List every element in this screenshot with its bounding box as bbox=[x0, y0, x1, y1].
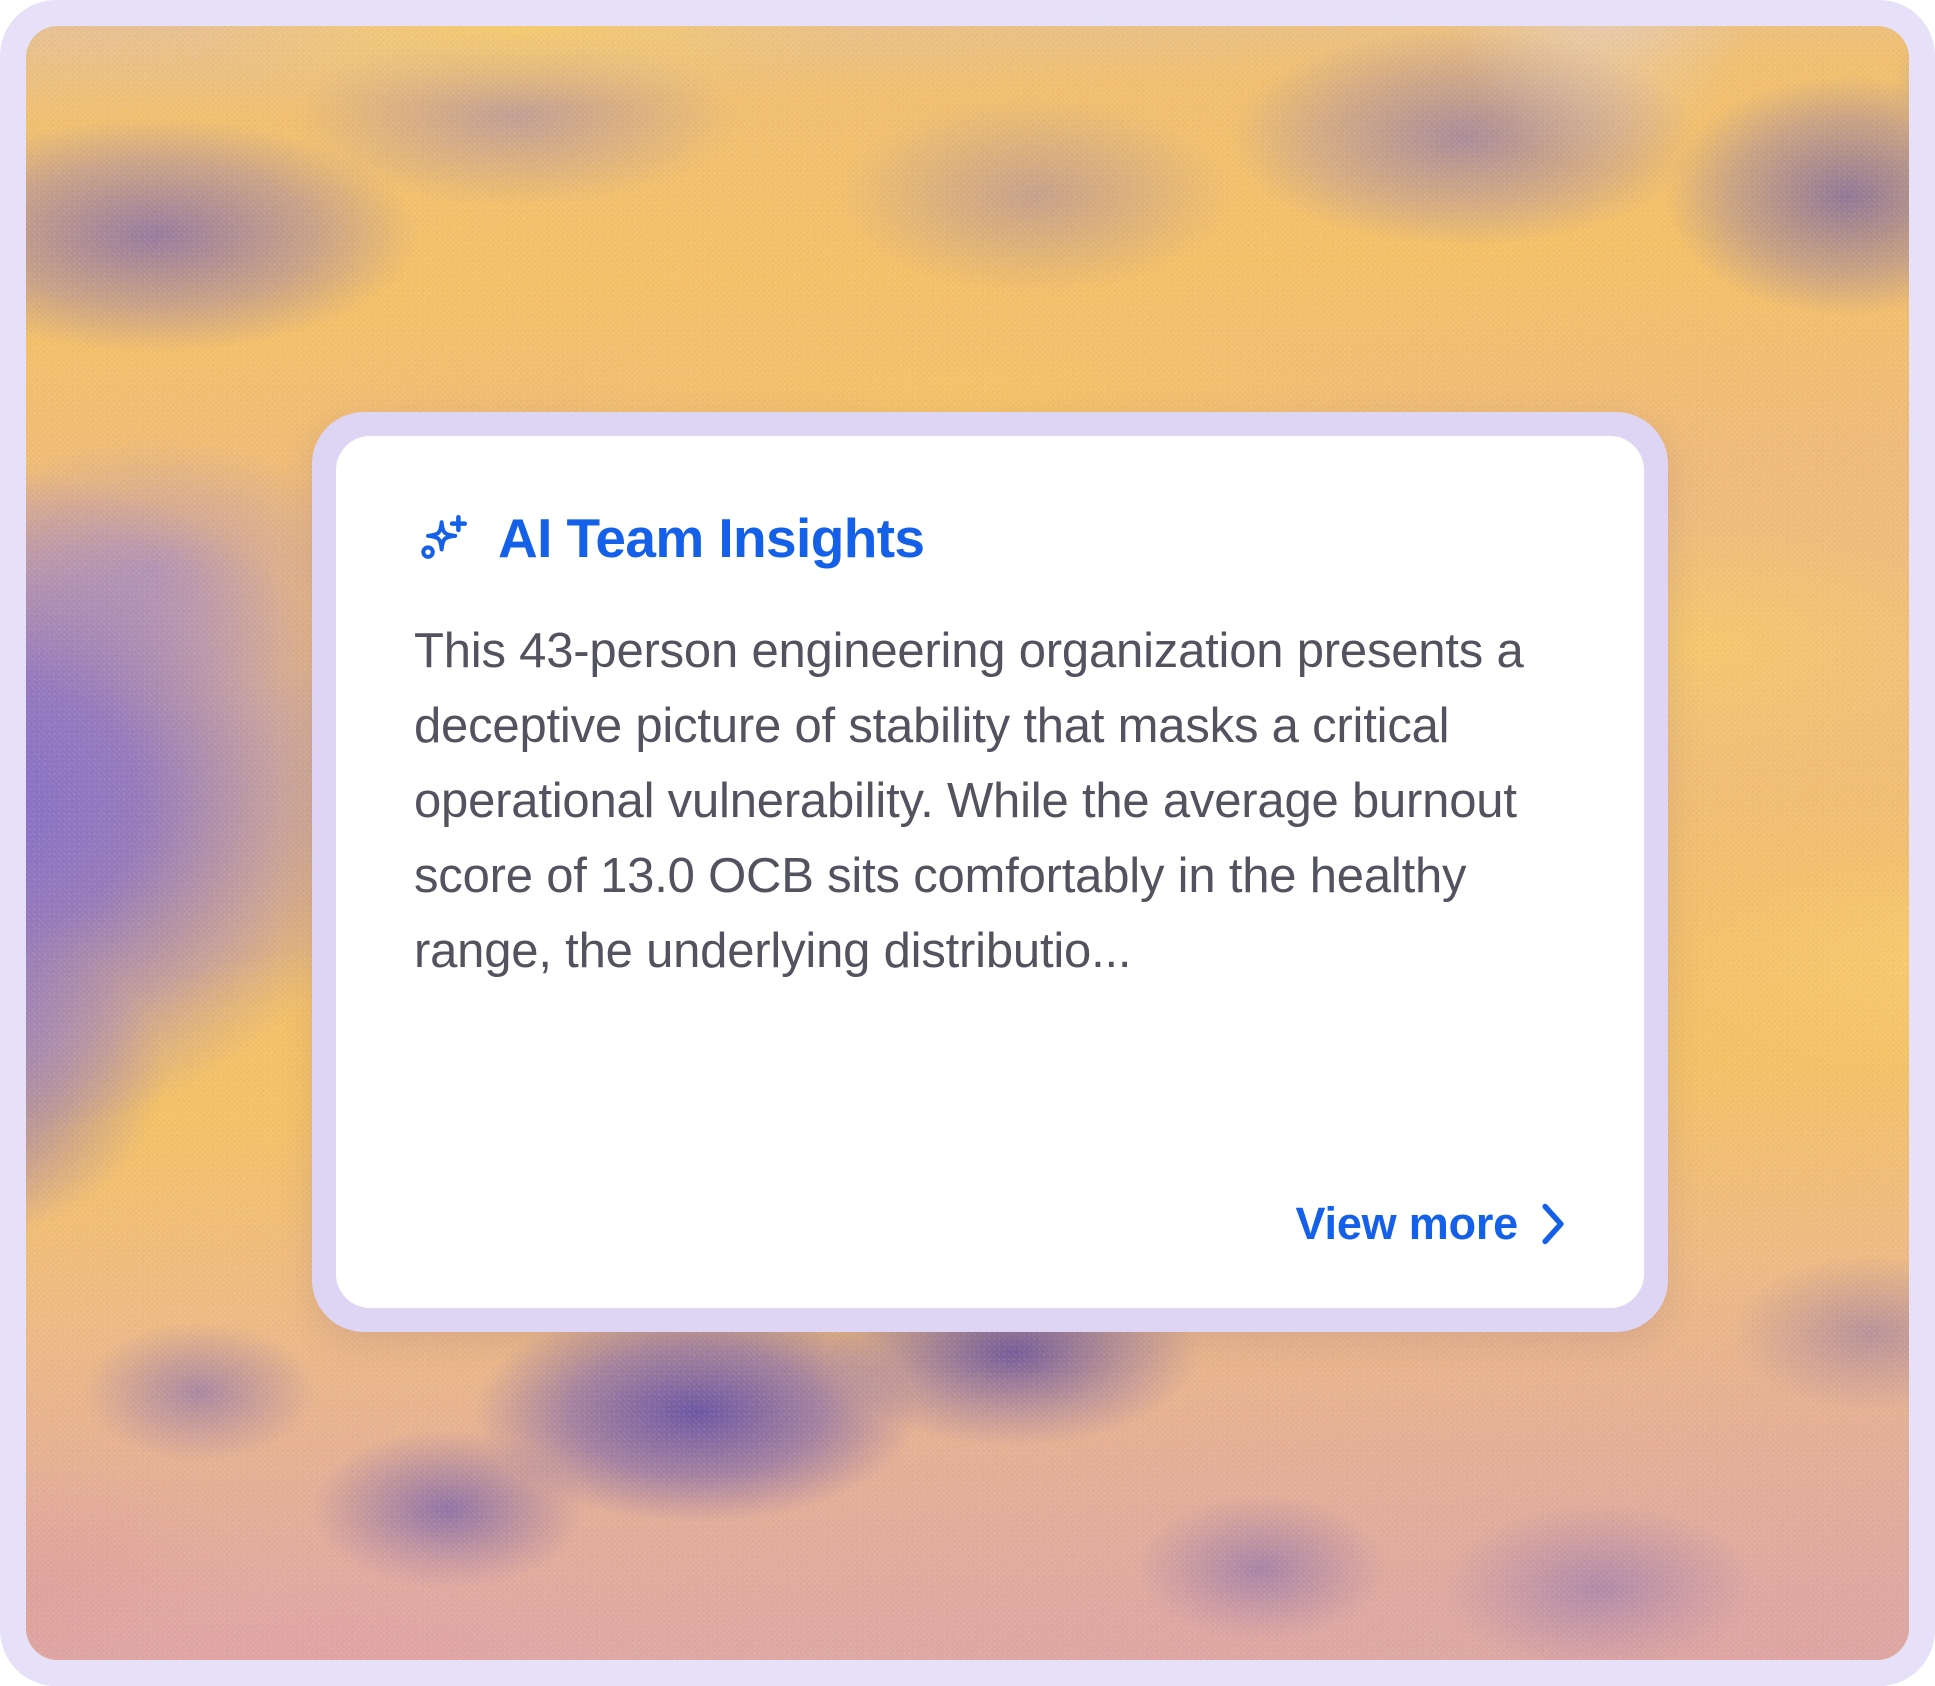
chevron-right-icon bbox=[1540, 1203, 1566, 1245]
ai-insights-card: AI Team Insights This 43-person engineer… bbox=[336, 436, 1644, 1308]
view-more-button[interactable]: View more bbox=[1296, 1198, 1566, 1250]
card-header: AI Team Insights bbox=[414, 510, 1566, 568]
ai-insights-card-ring: AI Team Insights This 43-person engineer… bbox=[312, 412, 1668, 1332]
screenshot-viewport: AI Team Insights This 43-person engineer… bbox=[0, 0, 1935, 1686]
page-title: AI Team Insights bbox=[498, 510, 924, 568]
card-footer: View more bbox=[414, 1198, 1566, 1250]
device-frame: AI Team Insights This 43-person engineer… bbox=[0, 0, 1935, 1686]
view-more-label: View more bbox=[1296, 1198, 1518, 1250]
ai-sparkle-icon bbox=[414, 510, 472, 568]
insight-summary-text: This 43-person engineering organization … bbox=[414, 614, 1566, 1182]
